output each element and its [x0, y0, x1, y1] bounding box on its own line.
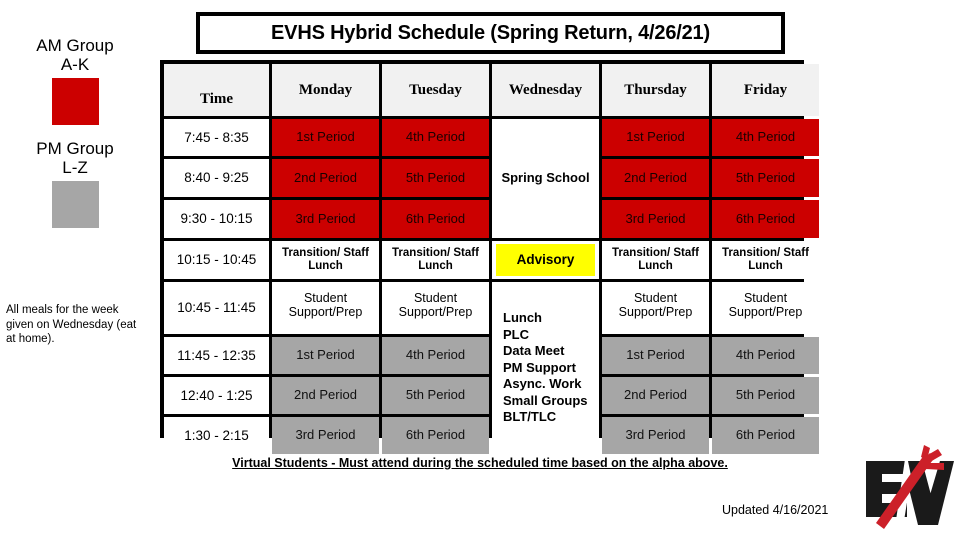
legend-am-label-line2: A-K — [0, 55, 150, 74]
meal-note: All meals for the week given on Wednesda… — [6, 303, 146, 347]
page-title: EVHS Hybrid Schedule (Spring Return, 4/2… — [271, 22, 710, 45]
schedule-table: Time Monday Tuesday Wednesday Thursday F… — [160, 60, 804, 438]
time-cell: 1:30 - 2:15 — [164, 417, 269, 454]
wed-afternoon-item: Lunch — [503, 310, 588, 327]
schedule-cell-mon-5: Student Support/Prep — [272, 282, 379, 334]
schedule-cell-wed-advisory: Advisory — [492, 241, 599, 279]
schedule-cell-tue-5: Student Support/Prep — [382, 282, 489, 334]
schedule-cell-mon-8: 3rd Period — [272, 417, 379, 454]
schedule-cell-thu-1: 1st Period — [602, 119, 709, 156]
schedule-cell-tue-2: 5th Period — [382, 159, 489, 197]
schedule-cell-mon-7: 2nd Period — [272, 377, 379, 414]
legend-am-group: AM Group A-K — [0, 36, 150, 125]
virtual-students-note: Virtual Students - Must attend during th… — [0, 456, 960, 470]
schedule-cell-fri-7: 5th Period — [712, 377, 819, 414]
legend-pm-label-line2: L-Z — [0, 158, 150, 177]
schedule-cell-fri-1: 4th Period — [712, 119, 819, 156]
legend-pm-group: PM Group L-Z — [0, 139, 150, 228]
schedule-cell-mon-3: 3rd Period — [272, 200, 379, 238]
schedule-cell-wed-afternoon-block: Lunch PLC Data Meet PM Support Async. Wo… — [492, 282, 599, 454]
schedule-cell-thu-6: 1st Period — [602, 337, 709, 374]
schedule-cell-thu-3: 3rd Period — [602, 200, 709, 238]
evhs-logo — [858, 443, 956, 535]
wed-afternoon-list: Lunch PLC Data Meet PM Support Async. Wo… — [503, 310, 588, 426]
schedule-cell-thu-2: 2nd Period — [602, 159, 709, 197]
group-legend: AM Group A-K PM Group L-Z — [0, 36, 150, 242]
schedule-cell-thu-5: Student Support/Prep — [602, 282, 709, 334]
schedule-cell-tue-7: 5th Period — [382, 377, 489, 414]
schedule-cell-fri-6: 4th Period — [712, 337, 819, 374]
schedule-title-box: EVHS Hybrid Schedule (Spring Return, 4/2… — [196, 12, 785, 54]
wed-afternoon-item: Async. Work — [503, 376, 588, 393]
time-cell: 10:15 - 10:45 — [164, 241, 269, 279]
schedule-cell-fri-2: 5th Period — [712, 159, 819, 197]
updated-date: Updated 4/16/2021 — [722, 503, 828, 517]
column-header-time: Time — [164, 64, 269, 116]
schedule-cell-mon-4: Transition/ Staff Lunch — [272, 241, 379, 279]
column-header-thursday: Thursday — [602, 64, 709, 116]
schedule-cell-tue-1: 4th Period — [382, 119, 489, 156]
schedule-cell-tue-8: 6th Period — [382, 417, 489, 454]
schedule-cell-tue-4: Transition/ Staff Lunch — [382, 241, 489, 279]
schedule-cell-mon-2: 2nd Period — [272, 159, 379, 197]
time-cell: 12:40 - 1:25 — [164, 377, 269, 414]
schedule-cell-fri-5: Student Support/Prep — [712, 282, 819, 334]
time-cell: 7:45 - 8:35 — [164, 119, 269, 156]
schedule-cell-thu-7: 2nd Period — [602, 377, 709, 414]
schedule-cell-fri-3: 6th Period — [712, 200, 819, 238]
legend-pm-label-line1: PM Group — [0, 139, 150, 158]
wed-afternoon-item: PLC — [503, 327, 588, 344]
time-cell: 8:40 - 9:25 — [164, 159, 269, 197]
advisory-highlight-box: Advisory — [496, 244, 595, 276]
schedule-cell-fri-8: 6th Period — [712, 417, 819, 454]
schedule-cell-mon-1: 1st Period — [272, 119, 379, 156]
legend-pm-color-swatch — [52, 181, 99, 228]
wed-afternoon-item: Data Meet — [503, 343, 588, 360]
wed-afternoon-item: BLT/TLC — [503, 409, 588, 426]
legend-am-color-swatch — [52, 78, 99, 125]
column-header-monday: Monday — [272, 64, 379, 116]
column-header-friday: Friday — [712, 64, 819, 116]
schedule-cell-wed-spring-school: Spring School — [492, 119, 599, 238]
column-header-wednesday: Wednesday — [492, 64, 599, 116]
column-header-tuesday: Tuesday — [382, 64, 489, 116]
time-cell: 11:45 - 12:35 — [164, 337, 269, 374]
schedule-cell-mon-6: 1st Period — [272, 337, 379, 374]
time-cell: 10:45 - 11:45 — [164, 282, 269, 334]
time-cell: 9:30 - 10:15 — [164, 200, 269, 238]
wed-afternoon-item: Small Groups — [503, 393, 588, 410]
schedule-cell-thu-4: Transition/ Staff Lunch — [602, 241, 709, 279]
schedule-cell-fri-4: Transition/ Staff Lunch — [712, 241, 819, 279]
legend-am-label-line1: AM Group — [0, 36, 150, 55]
schedule-cell-tue-6: 4th Period — [382, 337, 489, 374]
schedule-cell-tue-3: 6th Period — [382, 200, 489, 238]
schedule-cell-thu-8: 3rd Period — [602, 417, 709, 454]
wed-afternoon-item: PM Support — [503, 360, 588, 377]
